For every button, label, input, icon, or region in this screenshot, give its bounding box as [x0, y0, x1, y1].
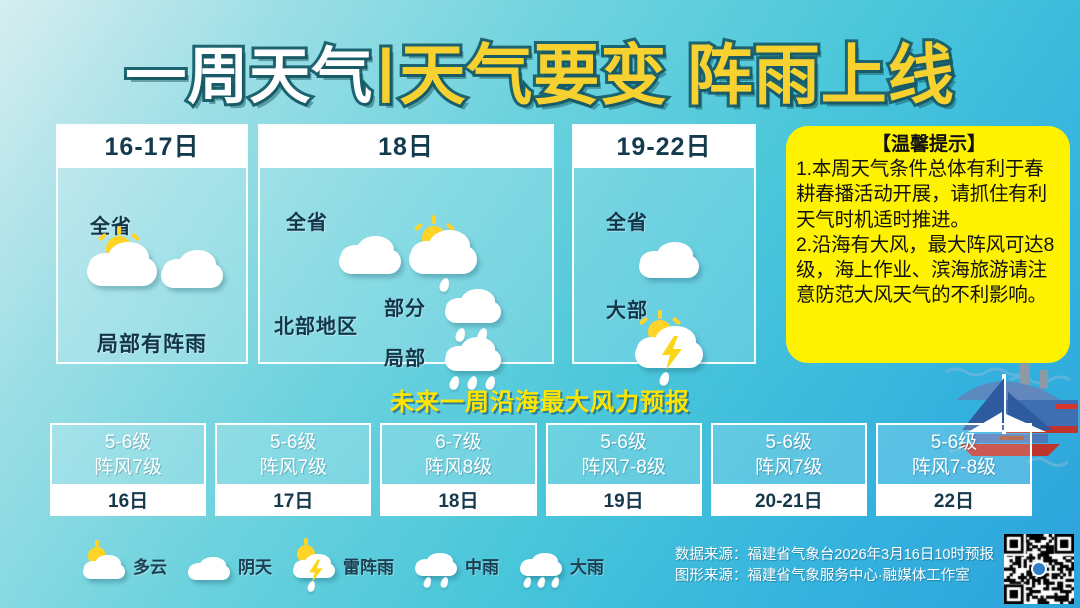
panel-18-date: 18日: [260, 126, 552, 168]
tip-line-2: 2.沿海有大风，最大阵风可达8级，海上作业、滨海旅游请注意防范大风天气的不利影响…: [796, 233, 1062, 309]
panel-19-22-row0-label: 全省: [606, 206, 648, 235]
cloudy-icon: [187, 545, 233, 585]
cloudy-icon: [338, 232, 402, 280]
panel-16-17: 16-17日 全省 局部有阵雨: [56, 124, 248, 364]
page-title: 一周天气 | 天气要变 阵雨上线: [0, 22, 1080, 118]
wind-cell: 5-6级 阵风7-8级 19日: [546, 423, 702, 516]
wind-speed: 5-6级: [105, 430, 151, 455]
tip-box: 【温馨提示】 1.本周天气条件总体有利于春耕春播活动开展，请抓住有利天气时机适时…: [786, 126, 1070, 363]
wind-gust: 阵风7级: [755, 455, 823, 480]
legend-label: 多云: [133, 553, 167, 578]
source-credits: 数据来源：福建省气象台2026年3月16日10时预报 图形来源：福建省气象服务中…: [675, 545, 994, 587]
heavy-rain-icon: [444, 334, 502, 376]
legend-item: 阴天: [187, 539, 272, 591]
cloudy-icon: [160, 246, 224, 294]
partly-cloudy-icon: [82, 545, 128, 585]
wind-gust: 阵风7级: [94, 455, 162, 480]
moderate-rain-icon: [414, 545, 460, 585]
panel-18-row2-sub: 局部: [384, 342, 426, 371]
wind-date: 22日: [878, 484, 1030, 514]
tip-line-1: 1.本周天气条件总体有利于春耕春播活动开展，请抓住有利天气时机适时推进。: [796, 157, 1062, 233]
legend-item: 雷阵雨: [292, 539, 394, 591]
qr-code[interactable]: [1004, 534, 1074, 604]
legend-label: 中雨: [465, 553, 499, 578]
legend-label: 大雨: [570, 553, 604, 578]
wind-date: 17日: [217, 484, 369, 514]
wind-gust: 阵风7-8级: [581, 455, 665, 480]
wind-speed: 5-6级: [931, 430, 977, 455]
legend-label: 雷阵雨: [343, 553, 394, 578]
qr-code-logo: [1031, 561, 1047, 577]
panel-16-17-row0-label: 全省: [90, 210, 132, 239]
cloudy-icon: [638, 238, 700, 284]
wind-date: 16日: [52, 484, 204, 514]
wind-date: 18日: [382, 484, 534, 514]
moderate-rain-icon: [444, 286, 502, 328]
wind-date: 19日: [548, 484, 700, 514]
wind-gust: 阵风8级: [425, 455, 493, 480]
wind-speed: 5-6级: [270, 430, 316, 455]
panel-16-17-date: 16-17日: [58, 126, 246, 168]
thunderstorm-icon: [292, 545, 338, 585]
legend-item: 大雨: [519, 539, 604, 591]
wind-cell: 6-7级 阵风8级 18日: [380, 423, 536, 516]
title-white-part: 一周天气: [125, 26, 373, 115]
graphic-source-line: 图形来源：福建省气象服务中心·融媒体工作室: [675, 566, 994, 587]
thunderstorm-icon: [634, 322, 704, 374]
wind-forecast-title: 未来一周沿海最大风力预报: [0, 382, 1080, 417]
partly-cloudy-rain-icon: [408, 226, 478, 280]
wind-gust: 阵风7级: [259, 455, 327, 480]
panel-16-17-footer: 局部有阵雨: [58, 328, 246, 358]
data-source-line: 数据来源：福建省气象台2026年3月16日10时预报: [675, 545, 994, 566]
heavy-rain-icon: [519, 545, 565, 585]
panel-18: 18日 全省 北部地区 部分 局部: [258, 124, 554, 364]
wind-date: 20-21日: [713, 484, 865, 514]
legend: 多云 阴天 雷阵雨: [82, 539, 616, 591]
wind-cell: 5-6级 阵风7级 17日: [215, 423, 371, 516]
partly-cloudy-icon: [86, 238, 158, 292]
panel-19-22: 19-22日 全省 大部: [572, 124, 756, 364]
wind-cell: 5-6级 阵风7级 16日: [50, 423, 206, 516]
panel-19-22-date: 19-22日: [574, 126, 754, 168]
wind-speed: 5-6级: [600, 430, 646, 455]
legend-item: 多云: [82, 539, 167, 591]
wind-cell: 5-6级 阵风7-8级 22日: [876, 423, 1032, 516]
panel-18-row0-label: 全省: [286, 206, 328, 235]
title-yellow-part: 天气要变 阵雨上线: [399, 22, 954, 118]
wind-speed: 6-7级: [435, 430, 481, 455]
legend-label: 阴天: [238, 553, 272, 578]
title-divider: |: [378, 37, 395, 104]
wind-speed: 5-6级: [766, 430, 812, 455]
panel-18-row1-label: 北部地区: [274, 310, 358, 339]
wind-gust: 阵风7-8级: [912, 455, 996, 480]
wind-forecast-row: 5-6级 阵风7级 16日 5-6级 阵风7级 17日 6-7级 阵风8级 18…: [50, 423, 1032, 516]
panel-18-row1-sub: 部分: [384, 292, 426, 321]
legend-item: 中雨: [414, 539, 499, 591]
wind-cell: 5-6级 阵风7级 20-21日: [711, 423, 867, 516]
tip-title: 【温馨提示】: [796, 132, 1062, 157]
